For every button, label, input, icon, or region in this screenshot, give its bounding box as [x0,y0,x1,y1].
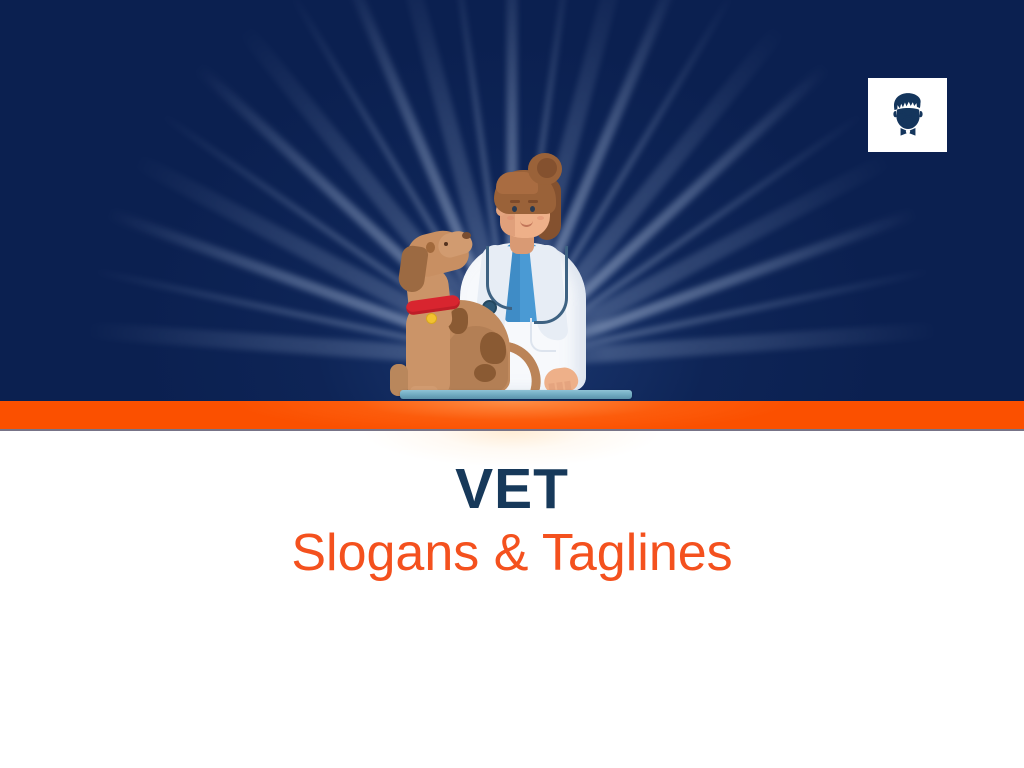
hero-panel [0,0,1024,401]
orange-band-glow [0,401,1024,431]
dog-collar-tag [426,313,437,324]
slide-canvas: VET Slogans & Taglines [0,0,1024,768]
dog-spot [480,332,506,364]
examination-table [400,390,632,399]
dog-spot [474,364,496,382]
orange-divider-band [0,401,1024,431]
page-subtitle: Slogans & Taglines [0,520,1024,586]
vet-cheek-left [507,216,514,220]
dog-eye [444,242,448,246]
boy-face-logo-icon [880,87,936,143]
vet-coat-pocket [530,318,556,352]
dog-nose [462,232,471,239]
vet-hair-bun-highlight [537,158,557,178]
page-title: VET [0,458,1024,520]
title-area: VET Slogans & Taglines [0,431,1024,768]
title-block: VET Slogans & Taglines [0,458,1024,586]
vet-cheek-right [537,216,544,220]
veterinarian-with-dog-illustration [382,150,650,395]
vet-eyebrow-left [510,200,520,203]
vet-eye-left [512,206,517,212]
boy-face-logo[interactable] [868,78,947,152]
vet-eye-right [530,206,535,212]
stethoscope-right-tube [534,246,568,324]
vet-eyebrow-right [528,200,538,203]
